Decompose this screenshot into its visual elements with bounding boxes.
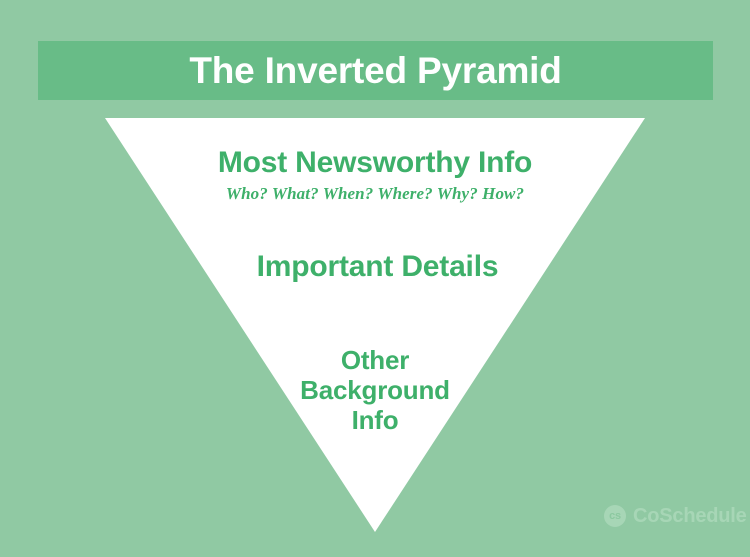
coschedule-logo: cs CoSchedule <box>604 505 747 527</box>
tier-3-line-1: Other <box>210 345 540 375</box>
tier-3-line-2: Background <box>210 375 540 405</box>
tier-3-line-3: Info <box>210 405 540 435</box>
coschedule-wordmark: CoSchedule <box>633 506 747 526</box>
pyramid-tier-other-background-info: Other Background Info <box>210 345 540 435</box>
coschedule-badge-label: cs <box>609 511 621 522</box>
tier-2-heading: Important Details <box>130 252 625 282</box>
infographic-canvas: The Inverted Pyramid Most Newsworthy Inf… <box>0 0 750 557</box>
pyramid-tier-most-newsworthy: Most Newsworthy Info Who? What? When? Wh… <box>105 147 645 203</box>
pyramid-tier-important-details: Important Details <box>130 252 625 282</box>
tier-1-subtitle: Who? What? When? Where? Why? How? <box>105 185 645 204</box>
tier-3-heading: Other Background Info <box>210 345 540 435</box>
tier-1-heading: Most Newsworthy Info <box>105 147 645 179</box>
coschedule-badge-icon: cs <box>604 505 626 527</box>
